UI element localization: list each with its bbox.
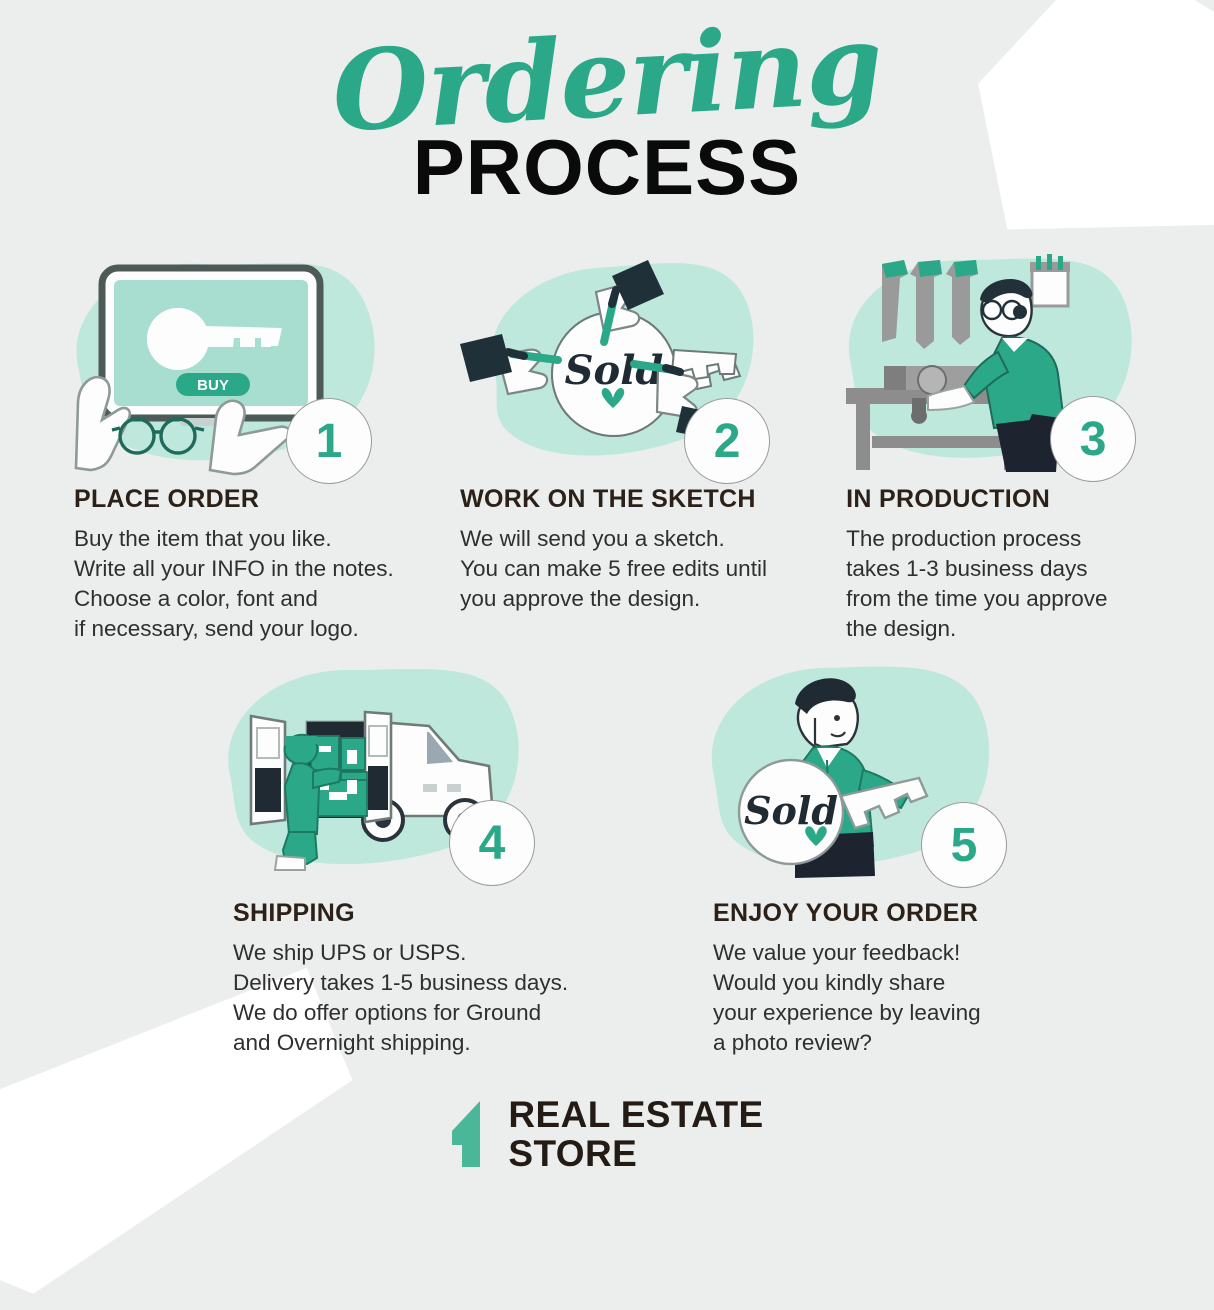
step-4-illustration: 4: [215, 660, 635, 885]
step-1-illustration: BUY 1: [60, 246, 436, 471]
sold-script-label-5: Sold: [744, 788, 838, 833]
step-badge-1: 1: [286, 398, 372, 484]
step-card-1: BUY 1 PLACE ORDER Buy the item that you …: [60, 246, 436, 645]
step-badge-2: 2: [684, 398, 770, 484]
step-1-title: PLACE ORDER: [74, 485, 436, 514]
footer-brand: REAL ESTATE STORE: [0, 1095, 1214, 1174]
house-arrow-icon: [450, 1101, 494, 1167]
step-badge-3: 3: [1050, 396, 1136, 482]
step-4-title: SHIPPING: [233, 899, 635, 928]
page-header: Ordering PROCESS: [0, 22, 1214, 206]
step-5-title: ENJOY YOUR ORDER: [713, 899, 1115, 928]
sold-script-label: Sold: [565, 347, 664, 394]
step-3-body: The production process takes 1-3 busines…: [846, 524, 1160, 645]
step-2-illustration: Sold: [446, 246, 822, 471]
step-badge-4: 4: [449, 800, 535, 886]
step-5-body: We value your feedback! Would you kindly…: [713, 938, 1115, 1059]
buy-button-label: BUY: [197, 377, 229, 394]
step-3-illustration: 3: [832, 246, 1160, 471]
step-card-2: Sold: [446, 246, 822, 645]
infographic-canvas: Ordering PROCESS BUY: [0, 0, 1214, 1216]
step-card-5: Sold 5 ENJOY YOUR ORDER We value your fe…: [695, 660, 1115, 1059]
steps-row-top: BUY 1 PLACE ORDER Buy the item that you …: [60, 246, 1160, 645]
step-5-illustration: Sold 5: [695, 660, 1115, 885]
step-1-body: Buy the item that you like. Write all yo…: [74, 524, 436, 645]
steps-row-bottom: 4 SHIPPING We ship UPS or USPS. Delivery…: [215, 660, 1165, 1059]
brand-name: REAL ESTATE STORE: [508, 1095, 763, 1174]
step-badge-5: 5: [921, 802, 1007, 888]
step-card-4: 4 SHIPPING We ship UPS or USPS. Delivery…: [215, 660, 635, 1059]
step-2-body: We will send you a sketch. You can make …: [460, 524, 822, 614]
step-card-3: 3 IN PRODUCTION The production process t…: [832, 246, 1160, 645]
step-4-body: We ship UPS or USPS. Delivery takes 1-5 …: [233, 938, 635, 1059]
step-3-title: IN PRODUCTION: [846, 485, 1160, 514]
step-2-title: WORK ON THE SKETCH: [460, 485, 822, 514]
